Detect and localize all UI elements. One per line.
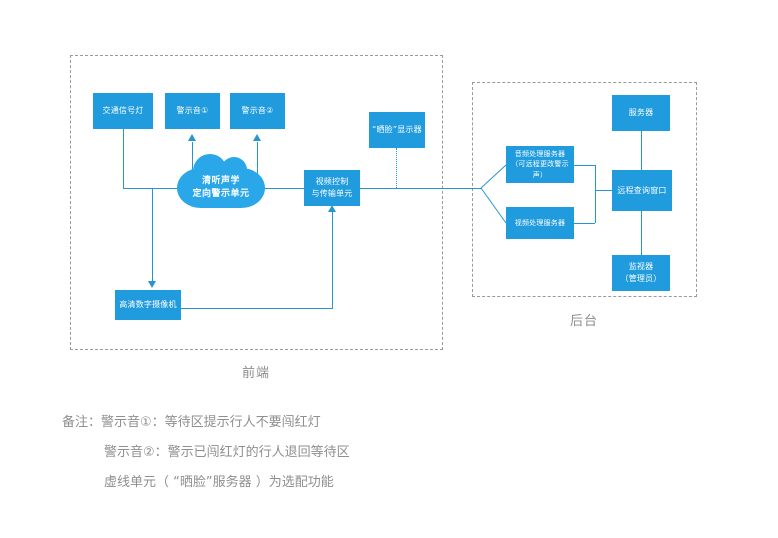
node-warning-sound-1[interactable]: 警示音①: [165, 93, 220, 129]
connector-face-display-dotted: [396, 148, 397, 188]
node-face-display[interactable]: “晒脸”显示器: [369, 112, 425, 148]
connector-branch-to-query: [595, 190, 612, 191]
arrowhead-warning2: [253, 134, 261, 141]
node-hd-camera-label: 高清数字摄像机: [119, 299, 176, 311]
node-video-control-unit[interactable]: 视频控制 与传输单元: [304, 170, 360, 206]
connector-traffic-light-down: [123, 129, 124, 188]
connector-cloud-to-video-control: [264, 188, 304, 189]
group-frontend-label: 前端: [206, 362, 306, 381]
note-line-1: 备注：警示音①：等待区提示行人不要闯红灯: [62, 408, 482, 438]
node-video-server[interactable]: 视频处理服务器: [506, 207, 574, 239]
node-traffic-light[interactable]: 交通信号灯: [93, 93, 153, 129]
connector-server-to-query: [641, 131, 642, 170]
node-audio-server-line1: 音频处理服务器: [515, 149, 565, 159]
connector-bus-left: [123, 188, 179, 189]
node-video-control-unit-line2: 与传输单元: [312, 188, 353, 200]
connector-camera-up: [332, 212, 333, 309]
connector-branch-join: [595, 190, 596, 223]
node-audio-server[interactable]: 音频处理服务器 （可远程更改警示声）: [506, 146, 574, 183]
node-audio-server-line2: （可远程更改警示声）: [508, 159, 572, 179]
node-remote-query-window[interactable]: 远程查询窗口: [612, 170, 672, 211]
diagram-canvas: 前端 后台 交通信号灯 警示音① 警示音②: [0, 0, 778, 538]
arrowhead-camera-in: [148, 281, 156, 288]
connector-video-control-to-branch: [359, 188, 481, 189]
arrowhead-warning1: [188, 134, 196, 141]
node-warning-sound-1-label: 警示音①: [177, 105, 209, 117]
node-monitor[interactable]: 监视器 （管理员）: [612, 255, 670, 291]
connector-query-to-monitor: [641, 211, 642, 255]
node-monitor-line2: （管理员）: [621, 273, 662, 285]
node-warning-sound-2[interactable]: 警示音②: [230, 93, 285, 129]
node-server[interactable]: 服务器: [612, 95, 670, 131]
connector-to-camera-vertical: [152, 188, 153, 281]
note-line-2: 警示音②：警示已闯红灯的行人退回等待区: [62, 438, 482, 468]
node-video-control-unit-line1: 视频控制: [316, 176, 349, 188]
node-hd-camera[interactable]: 高清数字摄像机: [115, 290, 181, 320]
arrowhead-video-control-in: [328, 205, 336, 212]
node-video-server-label: 视频处理服务器: [515, 218, 565, 228]
connector-audio-server-right: [573, 165, 595, 166]
diagram-notes: 备注：警示音①：等待区提示行人不要闯红灯 警示音②：警示已闯红灯的行人退回等待区…: [62, 408, 482, 498]
node-traffic-light-label: 交通信号灯: [103, 105, 144, 117]
node-face-display-label: “晒脸”显示器: [372, 124, 422, 136]
node-remote-query-window-label: 远程查询窗口: [617, 185, 666, 197]
node-warning-sound-2-label: 警示音②: [242, 105, 274, 117]
node-monitor-line1: 监视器: [629, 261, 654, 273]
node-acoustic-unit[interactable]: 清听声学 定向警示单元: [177, 168, 265, 208]
note-line-3: 虚线单元（ “晒脸”服务器 ）为选配功能: [62, 468, 482, 498]
node-server-label: 服务器: [629, 107, 654, 119]
node-acoustic-unit-line1: 清听声学: [202, 175, 240, 189]
connector-video-server-right: [573, 223, 595, 224]
node-acoustic-unit-line2: 定向警示单元: [192, 188, 249, 202]
group-backend-label: 后台: [534, 310, 634, 329]
connector-camera-right: [181, 308, 333, 309]
